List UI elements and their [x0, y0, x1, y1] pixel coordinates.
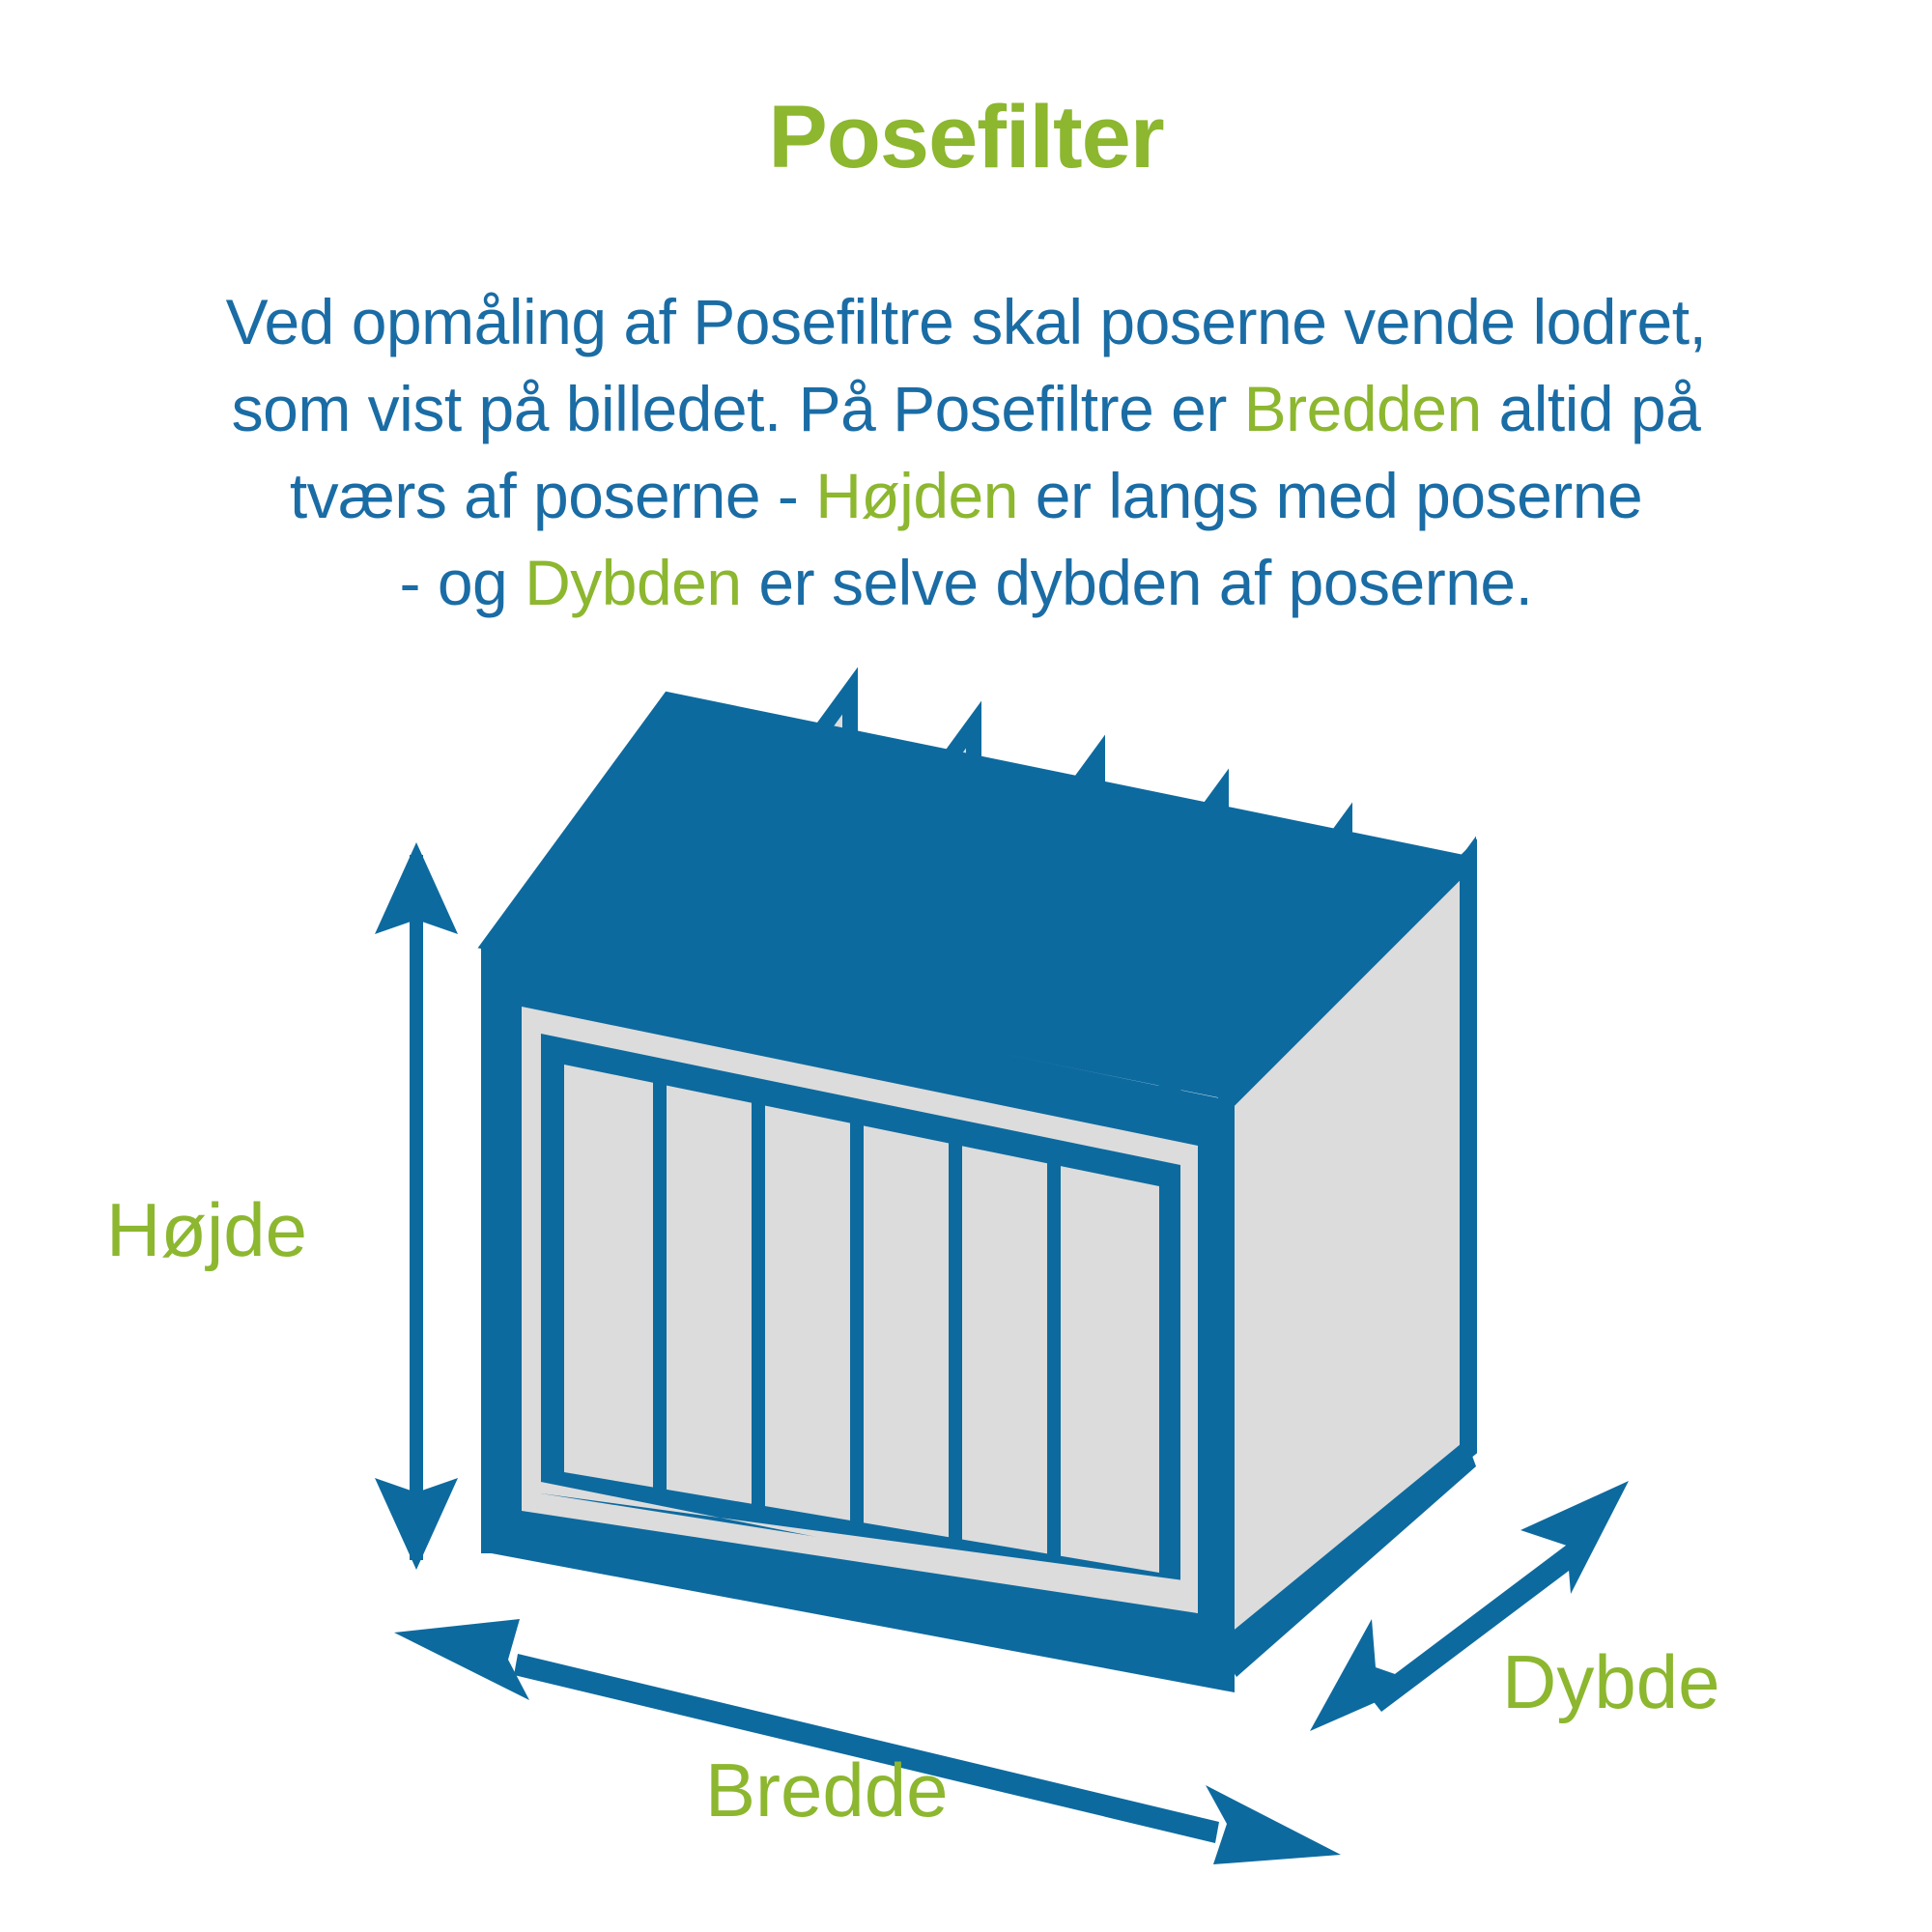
intro-line-4-b: er selve dybden af poserne. — [742, 547, 1533, 618]
front-divider-1 — [653, 1082, 667, 1490]
front-frame-left-edge — [481, 947, 522, 1553]
depth-label: Dybde — [1502, 1639, 1719, 1724]
front-divider-4 — [949, 1142, 962, 1554]
poster-page: Posefilter Ved opmåling af Posefiltre sk… — [0, 0, 1932, 1932]
intro-line-1: Ved opmåling af Posefiltre skal poserne … — [226, 286, 1707, 357]
intro-line-3-b: er langs med poserne — [1018, 460, 1642, 531]
front-divider-5 — [1047, 1162, 1061, 1576]
intro-highlight-hojden: Højden — [815, 460, 1018, 531]
intro-line-3-a: tværs af poserne - — [290, 460, 815, 531]
height-label: Højde — [106, 1187, 307, 1272]
intro-highlight-bredden: Bredden — [1244, 373, 1482, 444]
page-title: Posefilter — [0, 93, 1932, 182]
height-arrow-shaft — [410, 855, 423, 1560]
intro-paragraph: Ved opmåling af Posefiltre skal poserne … — [87, 278, 1845, 626]
intro-line-2-a: som vist på billedet. På Posefiltre er — [232, 373, 1244, 444]
front-divider-2 — [752, 1101, 765, 1511]
intro-line-2-b: altid på — [1482, 373, 1701, 444]
height-arrow — [375, 842, 458, 1570]
width-arrow-head-right — [1206, 1785, 1341, 1864]
intro-highlight-dybden: Dybden — [525, 547, 742, 618]
front-divider-3 — [850, 1122, 864, 1533]
width-label: Bredde — [705, 1747, 949, 1833]
bag-filter-diagram: Højde Bredde Dybde — [0, 667, 1932, 1932]
intro-line-4-a: - og — [400, 547, 526, 618]
